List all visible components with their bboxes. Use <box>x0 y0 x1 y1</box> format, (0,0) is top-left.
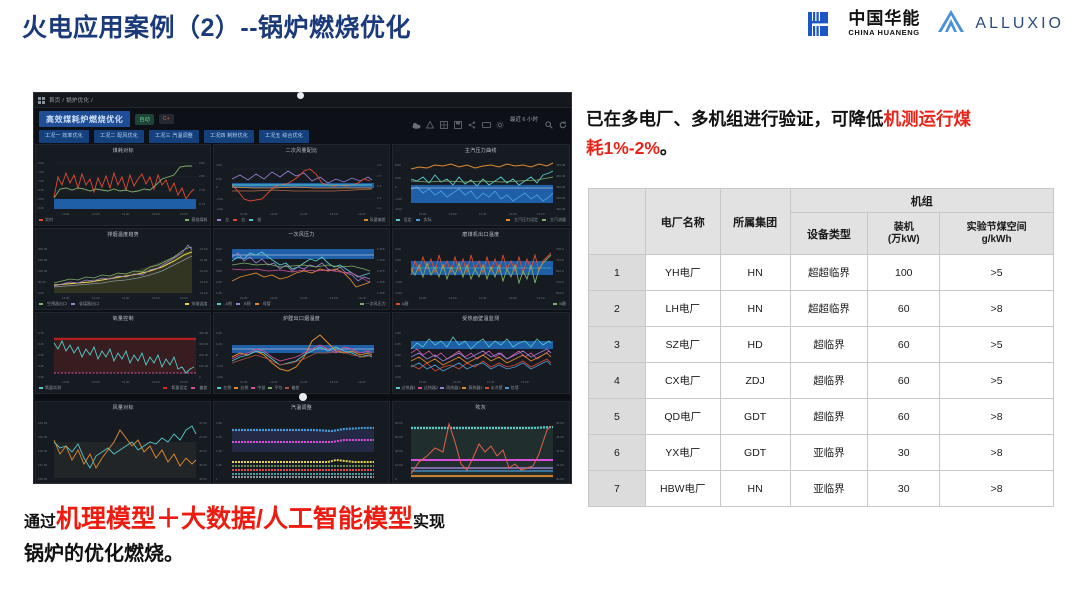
svg-text:4.00: 4.00 <box>395 258 401 262</box>
time-range-label[interactable]: 最近 6 小时 <box>510 115 538 123</box>
svg-text:11:40: 11:40 <box>300 296 308 300</box>
svg-text:502.0: 502.0 <box>556 269 564 273</box>
svg-text:2.74: 2.74 <box>199 202 205 206</box>
th-capacity: 装机 (万kW) <box>868 213 940 255</box>
panel-2[interactable]: 主汽压力曲线 8.006.000-4.00-8.00 470.00460.004… <box>392 144 570 226</box>
svg-text:13:00: 13:00 <box>152 483 160 484</box>
svg-text:11:40: 11:40 <box>300 483 308 484</box>
panel-title: 主汽压力曲线 <box>393 145 569 155</box>
alluxio-mark-icon <box>936 7 966 40</box>
tab-3[interactable]: 工况四 制粉优化 <box>204 130 254 143</box>
cell-index: 7 <box>589 471 646 507</box>
page-title: 火电应用案例（2）--锅炉燃烧优化 <box>22 8 411 44</box>
svg-text:13:20: 13:20 <box>180 212 188 216</box>
cell-saving: >8 <box>940 399 1054 435</box>
refresh-icon[interactable] <box>559 116 566 123</box>
svg-text:160.00: 160.00 <box>38 449 48 453</box>
svg-text:11:00: 11:00 <box>419 380 427 384</box>
cell-plant: CX电厂 <box>645 363 720 399</box>
cell-group: ZDJ <box>720 363 790 399</box>
panel-3[interactable]: 排烟温度趋势 200.00150.00100.0050.000.00 -13.0… <box>35 228 211 310</box>
dashboard-top-handle[interactable] <box>297 92 304 99</box>
legend-item: 排烟温度 <box>185 301 207 307</box>
panel-6[interactable]: 氧量控制 0.700.450.400.350.30 400.00300.0020… <box>35 312 211 394</box>
conclusion-seg1: 通过 <box>24 514 56 531</box>
alluxio-logo: ALLUXIO <box>936 7 1064 40</box>
table-head: 电厂名称 所属集团 机组 设备类型 装机 (万kW) 实验节煤空间 g/kWh <box>589 189 1054 255</box>
svg-text:46.00: 46.00 <box>556 435 564 439</box>
svg-text:0.45: 0.45 <box>38 342 44 346</box>
svg-text:45.50: 45.50 <box>199 477 207 481</box>
svg-text:13:00: 13:00 <box>330 296 338 300</box>
cell-group: GDT <box>720 435 790 471</box>
svg-text:4.00: 4.00 <box>395 331 401 335</box>
legend-item: 空预器出口 省煤器出口 <box>39 301 99 307</box>
svg-text:300.00: 300.00 <box>199 342 209 346</box>
svg-text:11:00: 11:00 <box>419 296 427 300</box>
svg-text:6.00: 6.00 <box>395 176 401 180</box>
svg-text:6.50: 6.50 <box>38 197 44 201</box>
svg-text:-2.00: -2.00 <box>216 197 223 201</box>
svg-text:100.00: 100.00 <box>38 269 48 273</box>
panel-chart: 8.006.000-4.00-8.00 470.00460.00450.0044… <box>393 155 570 217</box>
panel-8[interactable]: 受热面壁温监测 4.000.050.020.000.00 11:0012:001… <box>392 312 570 394</box>
settings-icon[interactable] <box>496 116 503 123</box>
cell-index: 3 <box>589 327 646 363</box>
svg-text:400.00: 400.00 <box>199 331 209 335</box>
panel-chart: 4.002.000-2.00-4.00 2.22.72.42.22.4 11:0… <box>214 155 389 217</box>
panel-chart: 163.00162.00160.00157.00155.00 47.5047.0… <box>36 412 211 484</box>
svg-text:5.00: 5.00 <box>216 247 222 251</box>
panel-title: 二次风量配比 <box>214 145 388 155</box>
svg-text:13:20: 13:20 <box>180 483 188 484</box>
desc-line1-black: 已在多电厂、多机组进行验证，可降低 <box>586 109 884 129</box>
svg-text:7.50: 7.50 <box>38 170 44 174</box>
panel-legend: 左侧 右侧 中部 平均 偏差 <box>214 385 388 393</box>
svg-text:48.00: 48.00 <box>556 421 564 425</box>
panel-9[interactable]: 风量对标 163.00162.00160.00157.00155.00 47.5… <box>35 401 211 484</box>
svg-text:0.00: 0.00 <box>395 375 401 379</box>
svg-text:12:00: 12:00 <box>449 296 457 300</box>
svg-text:11:40: 11:40 <box>122 296 130 300</box>
svg-text:12:00: 12:00 <box>449 212 457 216</box>
th-index <box>589 189 646 255</box>
svg-text:47.00: 47.00 <box>199 435 207 439</box>
svg-text:13:00: 13:00 <box>152 296 160 300</box>
svg-text:504.0: 504.0 <box>556 291 564 295</box>
badge-auto: 自动 <box>135 114 154 125</box>
panel-legend: 设定 实际 主汽压力设定 主汽流量 <box>393 217 569 225</box>
svg-text:40.00: 40.00 <box>395 449 403 453</box>
legend-item: B磨 <box>553 301 566 307</box>
svg-text:6.00: 6.00 <box>395 247 401 251</box>
th-saving-unit: g/kWh <box>940 234 1053 246</box>
legend-item: 氧量设定 偏差 <box>163 385 207 391</box>
svg-text:12:00: 12:00 <box>92 483 100 484</box>
dashboard-row-resizer[interactable] <box>35 396 570 399</box>
svg-text:13:20: 13:20 <box>180 296 188 300</box>
svg-text:2.80: 2.80 <box>199 174 205 178</box>
panel-title: 吹灰 <box>393 402 569 412</box>
legend-item: 风量偏差 <box>364 217 386 223</box>
svg-text:13:20: 13:20 <box>537 212 545 216</box>
description-text: 已在多电厂、多机组进行验证，可降低机测运行煤 耗1%-2%。 <box>586 105 1056 163</box>
tab-0[interactable]: 工况一 效率优化 <box>39 130 89 143</box>
table-row[interactable]: 1 YH电厂 HN 超超临界 100 >5 <box>589 255 1054 291</box>
svg-text:2.00: 2.00 <box>216 280 222 284</box>
svg-text:0.02: 0.02 <box>395 353 401 357</box>
conclusion-seg3: 实现 <box>413 514 445 531</box>
svg-text:11:40: 11:40 <box>479 212 487 216</box>
svg-text:1.60: 1.60 <box>216 421 222 425</box>
slide-root: 火电应用案例（2）--锅炉燃烧优化 中国华能 CHINA HUANENG <box>0 0 1080 608</box>
th-saving: 实验节煤空间 g/kWh <box>940 213 1054 255</box>
share-icon[interactable] <box>468 116 475 123</box>
desc-line1-red: 机测运行煤 <box>884 109 972 129</box>
svg-text:-1.00: -1.00 <box>216 364 223 368</box>
svg-text:11:40: 11:40 <box>487 380 495 384</box>
cell-capacity: 60 <box>868 291 940 327</box>
dashboard-screenshot: 首页 / 锅炉优化 / 高效煤耗炉燃烧优化 自动 C+ <box>33 92 572 484</box>
warning-icon[interactable] <box>426 116 433 123</box>
alluxio-wordmark: ALLUXIO <box>975 15 1064 33</box>
th-group: 所属集团 <box>720 189 790 255</box>
cell-group: GDT <box>720 399 790 435</box>
panel-title: 排烟温度趋势 <box>36 229 210 239</box>
panel-4[interactable]: 一次风压力 5.004.003.002.001.00 1.9251.7001.6… <box>213 228 389 310</box>
cell-saving: >8 <box>940 291 1054 327</box>
panel-legend: A磨 B磨 <box>393 301 569 309</box>
china-huaneng-logo: 中国华能 CHINA HUANENG <box>807 9 920 39</box>
legend-item: 过热器1 <box>396 385 416 391</box>
panel-title: 炉膛出口烟温度 <box>214 313 388 323</box>
svg-text:11:40: 11:40 <box>300 212 308 216</box>
legend-item: 平均 <box>268 385 282 391</box>
panel-7[interactable]: 炉膛出口烟温度 2.001.000-1.00-2.00 11:0012:0011… <box>213 312 389 394</box>
svg-text:0.00: 0.00 <box>38 291 44 295</box>
legend-item: 左 右 前 <box>217 217 261 223</box>
svg-text:440.00: 440.00 <box>556 196 566 200</box>
svg-text:2.00: 2.00 <box>216 177 222 181</box>
svg-text:1.30: 1.30 <box>216 449 222 453</box>
legend-item: 中部 <box>251 385 265 391</box>
svg-text:11:40: 11:40 <box>122 380 130 384</box>
panel-legend: 过热器1 过热器2 再热器1 再热器2 水冷壁 包墙 <box>393 385 569 393</box>
svg-text:1.450: 1.450 <box>377 280 385 284</box>
svg-text:200.00: 200.00 <box>199 353 209 357</box>
cell-index: 5 <box>589 399 646 435</box>
svg-text:11:40: 11:40 <box>300 380 308 384</box>
grid-icon <box>38 97 45 104</box>
cell-index: 1 <box>589 255 646 291</box>
cell-capacity: 60 <box>868 363 940 399</box>
svg-text:50.00: 50.00 <box>38 280 46 284</box>
legend-item: 再热器1 <box>440 385 460 391</box>
legend-item: 再热器2 <box>462 385 482 391</box>
svg-text:13:00: 13:00 <box>330 212 338 216</box>
cell-group: HN <box>720 471 790 507</box>
svg-text:13:00: 13:00 <box>509 483 517 484</box>
table-row[interactable]: 3 SZ电厂 HD 超临界 60 >5 <box>589 327 1054 363</box>
svg-text:12:00: 12:00 <box>270 380 278 384</box>
cell-device: 亚临界 <box>790 435 868 471</box>
dashboard-title-bar: 高效煤耗炉燃烧优化 自动 C+ <box>34 108 571 130</box>
legend-item: 水冷壁 <box>485 385 503 391</box>
svg-text:11:00: 11:00 <box>62 380 70 384</box>
cell-capacity: 30 <box>868 435 940 471</box>
save-icon[interactable] <box>454 116 461 123</box>
svg-text:12:00: 12:00 <box>453 380 461 384</box>
legend-item: 右侧 <box>234 385 248 391</box>
svg-text:46.50: 46.50 <box>199 449 207 453</box>
svg-text:11:40: 11:40 <box>122 212 130 216</box>
panel-title: 煤耗对标 <box>36 145 210 155</box>
svg-text:-4.00: -4.00 <box>395 197 402 201</box>
table-header-row-1: 电厂名称 所属集团 机组 <box>589 189 1054 213</box>
th-capacity-unit: (万kW) <box>868 234 939 246</box>
panel-chart: 5.007.507.00 6.756.500.25 6.822.802.782.… <box>36 155 211 217</box>
svg-text:163.00: 163.00 <box>38 421 48 425</box>
svg-text:13:00: 13:00 <box>509 212 517 216</box>
panel-title: 磨煤机出口温度 <box>393 229 569 239</box>
svg-text:1.925: 1.925 <box>377 247 385 251</box>
svg-text:702.0: 702.0 <box>556 280 564 284</box>
cell-index: 6 <box>589 435 646 471</box>
svg-text:0.05: 0.05 <box>395 342 401 346</box>
svg-text:430.00: 430.00 <box>556 207 566 211</box>
huaneng-wordmark: 中国华能 CHINA HUANENG <box>848 10 920 37</box>
badge-status: C+ <box>159 114 174 124</box>
legend-item: 包墙 <box>505 385 519 391</box>
svg-text:700.0: 700.0 <box>556 247 564 251</box>
table-row[interactable]: 7 HBW电厂 HN 亚临界 30 >8 <box>589 471 1054 507</box>
panel-row-4: 风量对标 163.00162.00160.00157.00155.00 47.5… <box>35 401 570 484</box>
cell-plant: HBW电厂 <box>645 471 720 507</box>
panel-chart: 60.0050.0040.0010.000 48.0046.0044.0042.… <box>393 412 570 484</box>
svg-text:0.00: 0.00 <box>395 364 401 368</box>
svg-text:11:00: 11:00 <box>62 212 70 216</box>
panel-row-3: 氧量控制 0.700.450.400.350.30 400.00300.0020… <box>35 312 570 394</box>
table-row[interactable]: 5 QD电厂 GDT 超临界 60 >8 <box>589 399 1054 435</box>
svg-text:2.78: 2.78 <box>199 188 205 192</box>
svg-text:-11.00: -11.00 <box>199 258 208 262</box>
svg-text:1.00: 1.00 <box>216 291 222 295</box>
svg-text:-12.00: -12.00 <box>199 269 208 273</box>
cell-plant: YX电厂 <box>645 435 720 471</box>
th-capacity-main: 装机 <box>868 222 939 234</box>
svg-text:704.0: 704.0 <box>556 258 564 262</box>
cell-device: 超临界 <box>790 399 868 435</box>
panel-row-2: 排烟温度趋势 200.00150.00100.0050.000.00 -13.0… <box>35 228 570 310</box>
panel-chart: 0.700.450.400.350.30 400.00300.00200.001… <box>36 323 211 385</box>
panel-row-1: 煤耗对标 5.007.507.00 6.756.500.25 <box>35 144 570 226</box>
legend-item: A侧 B侧 母管 <box>217 301 270 307</box>
panel-legend: 空预器出口 省煤器出口 排烟温度 <box>36 301 210 309</box>
th-unit-group: 机组 <box>790 189 1053 213</box>
tab-4[interactable]: 工况五 综合优化 <box>259 130 309 143</box>
svg-text:13:00: 13:00 <box>152 212 160 216</box>
svg-text:4.00: 4.00 <box>216 258 222 262</box>
dashboard-toolbar[interactable]: 最近 6 小时 <box>412 115 566 123</box>
table-row[interactable]: 2 LH电厂 HN 超超临界 60 >8 <box>589 291 1054 327</box>
table-row[interactable]: 4 CX电厂 ZDJ 超临界 60 >5 <box>589 363 1054 399</box>
svg-text:13:20: 13:20 <box>358 483 366 484</box>
svg-text:12:00: 12:00 <box>92 380 100 384</box>
svg-text:0.35: 0.35 <box>38 364 44 368</box>
svg-text:8.00: 8.00 <box>395 163 401 167</box>
cell-plant: SZ电厂 <box>645 327 720 363</box>
svg-text:12:00: 12:00 <box>92 212 100 216</box>
svg-text:12:00: 12:00 <box>270 212 278 216</box>
svg-text:11:00: 11:00 <box>62 296 70 300</box>
panel-title: 氧量控制 <box>36 313 210 323</box>
cell-capacity: 100 <box>868 255 940 291</box>
svg-text:200.00: 200.00 <box>38 247 48 251</box>
svg-text:11:40: 11:40 <box>479 483 487 484</box>
table-row[interactable]: 6 YX电厂 GDT 亚临界 30 >8 <box>589 435 1054 471</box>
svg-text:44.00: 44.00 <box>556 449 564 453</box>
svg-text:150.00: 150.00 <box>38 258 48 262</box>
svg-text:12:00: 12:00 <box>92 296 100 300</box>
svg-text:0.40: 0.40 <box>38 353 44 357</box>
svg-text:155.00: 155.00 <box>38 477 48 481</box>
svg-text:11:00: 11:00 <box>240 212 248 216</box>
panel-11[interactable]: 吹灰 60.0050.0040.0010.000 48.0046.0044.00… <box>392 401 570 484</box>
svg-text:7.00: 7.00 <box>38 179 44 183</box>
cloud-icon[interactable] <box>412 116 419 123</box>
th-saving-main: 实验节煤空间 <box>940 222 1053 234</box>
logo-group: 中国华能 CHINA HUANENG ALLUXIO <box>807 7 1064 40</box>
svg-text:12:00: 12:00 <box>270 483 278 484</box>
svg-text:46.00: 46.00 <box>199 463 207 467</box>
svg-text:-8.00: -8.00 <box>395 207 402 211</box>
cell-device: 超临界 <box>790 327 868 363</box>
svg-text:11:00: 11:00 <box>419 212 427 216</box>
svg-text:60.00: 60.00 <box>395 421 403 425</box>
search-icon[interactable] <box>545 116 552 123</box>
svg-text:2.00: 2.00 <box>216 331 222 335</box>
svg-text:12:00: 12:00 <box>449 483 457 484</box>
svg-text:13:20: 13:20 <box>358 380 366 384</box>
table-body: 1 YH电厂 HN 超超临界 100 >5 2 LH电厂 HN 超超临界 60 … <box>589 255 1054 507</box>
cell-capacity: 60 <box>868 399 940 435</box>
svg-text:157.00: 157.00 <box>38 463 48 467</box>
svg-text:42.00: 42.00 <box>556 463 564 467</box>
huaneng-name-cn: 中国华能 <box>848 10 920 27</box>
svg-text:11:00: 11:00 <box>240 380 248 384</box>
desc-line2-red: 耗1%-2% <box>586 138 660 158</box>
cell-device: 超超临界 <box>790 291 868 327</box>
cell-saving: >8 <box>940 435 1054 471</box>
conclusion-seg2-red: 机理模型＋大数据/人工智能模型 <box>56 505 413 533</box>
legend-item: 左侧 <box>217 385 231 391</box>
svg-text:13:00: 13:00 <box>521 380 529 384</box>
cell-device: 亚临界 <box>790 471 868 507</box>
svg-text:13:00: 13:00 <box>509 296 517 300</box>
cell-plant: LH电厂 <box>645 291 720 327</box>
panel-0[interactable]: 煤耗对标 5.007.507.00 6.756.500.25 <box>35 144 211 226</box>
svg-text:2.7: 2.7 <box>377 174 382 178</box>
svg-text:10.00: 10.00 <box>395 463 403 467</box>
cell-index: 4 <box>589 363 646 399</box>
dashboard-tabs[interactable]: 工况一 效率优化 工况二 配风优化 工况三 汽温调整 工况四 制粉优化 工况五 … <box>34 130 571 143</box>
legend-item: 设定 实际 <box>396 217 432 223</box>
legend-item: 主汽压力设定 主汽流量 <box>506 217 566 223</box>
panel-legend: 左 右 前 风量偏差 <box>214 217 388 225</box>
plants-table: 电厂名称 所属集团 机组 设备类型 装机 (万kW) 实验节煤空间 g/kWh … <box>588 188 1054 507</box>
panel-add-icon[interactable] <box>440 116 447 123</box>
svg-text:460.00: 460.00 <box>556 174 566 178</box>
cell-capacity: 60 <box>868 327 940 363</box>
svg-text:47.50: 47.50 <box>199 421 207 425</box>
svg-text:2.2: 2.2 <box>377 163 382 167</box>
svg-text:11:00: 11:00 <box>419 483 427 484</box>
cell-group: HN <box>720 291 790 327</box>
cell-group: HN <box>720 255 790 291</box>
tab-2[interactable]: 工况三 汽温调整 <box>149 130 199 143</box>
panel-1[interactable]: 二次风量配比 4.002.000-2.00-4.00 2.22.72.42.22… <box>213 144 389 226</box>
cell-saving: >5 <box>940 363 1054 399</box>
legend-item: 偏差 <box>285 385 299 391</box>
svg-text:12:00: 12:00 <box>270 296 278 300</box>
svg-text:-6.00: -6.00 <box>395 291 402 295</box>
svg-text:450.00: 450.00 <box>556 185 566 189</box>
svg-text:0.30: 0.30 <box>38 375 44 379</box>
svg-text:13:20: 13:20 <box>358 212 366 216</box>
panel-legend: 实时 基准煤耗 <box>36 217 210 225</box>
svg-text:13:20: 13:20 <box>537 483 545 484</box>
svg-text:-13.00: -13.00 <box>199 280 208 284</box>
huaneng-mark-icon <box>807 9 841 39</box>
legend-item: 一次风压力 <box>360 301 386 307</box>
svg-text:-4.00: -4.00 <box>395 280 402 284</box>
th-device-type: 设备类型 <box>790 213 868 255</box>
svg-text:11:40: 11:40 <box>122 483 130 484</box>
svg-text:1.20: 1.20 <box>216 463 222 467</box>
monitor-icon[interactable] <box>482 116 489 123</box>
svg-text:13:20: 13:20 <box>358 296 366 300</box>
breadcrumb: 首页 / 锅炉优化 / <box>49 96 93 104</box>
svg-text:50.00: 50.00 <box>395 435 403 439</box>
panel-title: 受热面壁温监测 <box>393 313 569 323</box>
svg-text:11:00: 11:00 <box>240 483 248 484</box>
svg-text:0.70: 0.70 <box>38 331 44 335</box>
panel-chart: 2.001.000-1.00-2.00 11:0012:0011:4013:00… <box>214 323 389 385</box>
svg-text:-13.00: -13.00 <box>199 247 208 251</box>
svg-text:1.50: 1.50 <box>216 435 222 439</box>
svg-text:1.675: 1.675 <box>377 269 385 273</box>
panel-chart: 1.601.501.301.201 11:0012:0011:4013:0013… <box>214 412 389 484</box>
panel-title: 汽温调整 <box>214 402 388 412</box>
svg-text:6.82: 6.82 <box>199 161 205 165</box>
cell-plant: YH电厂 <box>645 255 720 291</box>
cell-saving: >5 <box>940 255 1054 291</box>
tab-1[interactable]: 工况二 配风优化 <box>94 130 144 143</box>
panel-title: 风量对标 <box>36 402 210 412</box>
panel-10[interactable]: 汽温调整 1.601.501.301.201 11:0012: <box>213 401 389 484</box>
panel-legend: 氧量实测 氧量设定 偏差 <box>36 385 210 393</box>
svg-text:2.4: 2.4 <box>377 184 382 188</box>
cell-saving: >5 <box>940 327 1054 363</box>
desc-line2-black: 。 <box>660 138 678 158</box>
svg-text:-4.00: -4.00 <box>216 207 223 211</box>
svg-text:3.00: 3.00 <box>216 269 222 273</box>
panel-5[interactable]: 磨煤机出口温度 6.004.000-4.00-6.00 700.0704.050… <box>392 228 570 310</box>
svg-text:6.75: 6.75 <box>38 188 44 192</box>
cell-index: 2 <box>589 291 646 327</box>
svg-text:40.00: 40.00 <box>556 477 564 481</box>
svg-text:470.00: 470.00 <box>556 163 566 167</box>
